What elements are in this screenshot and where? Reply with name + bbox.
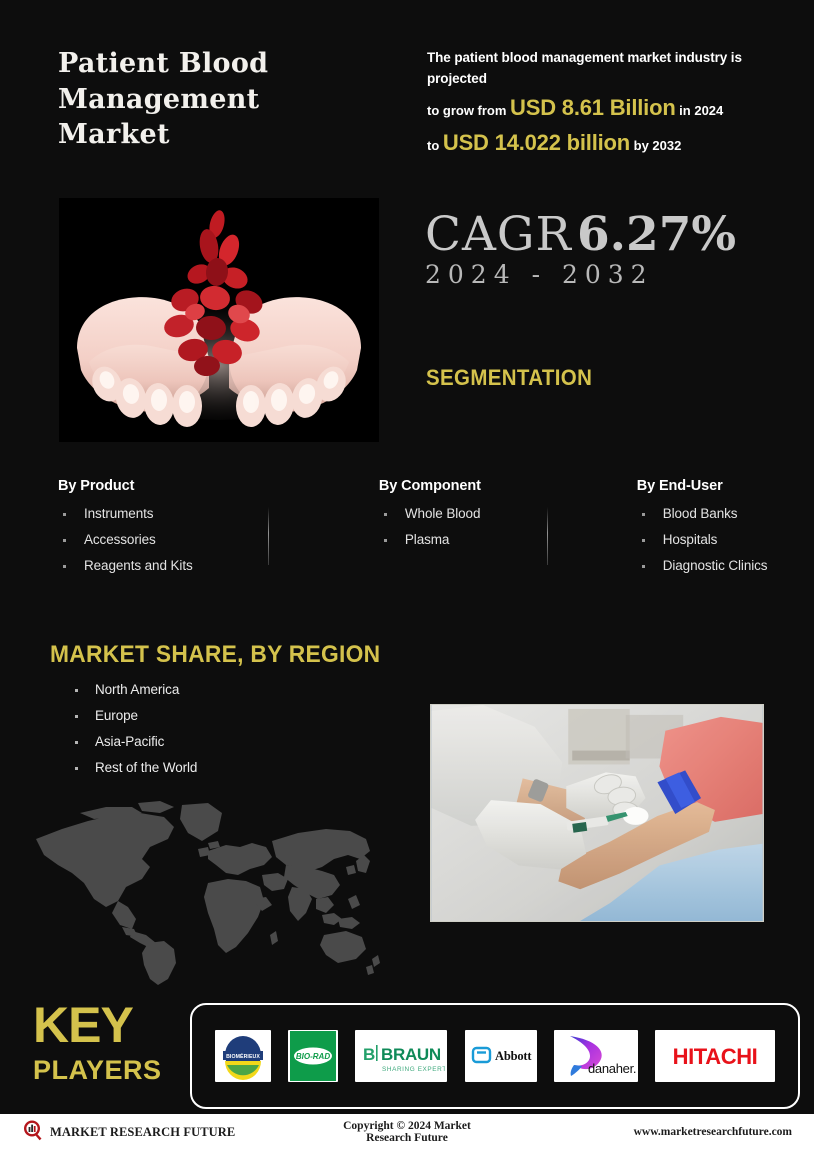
danaher-logo: danaher. xyxy=(554,1030,638,1082)
blood-draw-photo xyxy=(430,704,764,922)
footer-bar: MARKET RESEARCH FUTURE Copyright © 2024 … xyxy=(0,1114,814,1150)
cagr-value: 6.27% xyxy=(577,207,736,262)
biomerieux-logo: BIOMÉRIEUX xyxy=(215,1030,271,1082)
segment-list-by-component: Whole Blood Plasma xyxy=(379,506,577,547)
segment-column-by-end-user: By End-User Blood Banks Hospitals Diagno… xyxy=(577,478,778,584)
segment-list-by-product: Instruments Accessories Reagents and Kit… xyxy=(58,506,323,573)
intro-line-2-suffix: in 2024 xyxy=(676,103,724,118)
page-title: Patient Blood Management Market xyxy=(58,46,388,153)
list-item: Reagents and Kits xyxy=(58,558,323,573)
magnifier-barchart-icon xyxy=(22,1119,44,1146)
list-item: Diagnostic Clinics xyxy=(637,558,778,573)
list-item: Asia-Pacific xyxy=(72,734,197,749)
svg-text:SHARING EXPERTISE: SHARING EXPERTISE xyxy=(382,1066,445,1073)
segmentation-columns: By Product Instruments Accessories Reage… xyxy=(58,478,778,584)
list-item: North America xyxy=(72,682,197,697)
b-braun-logo: B BRAUN SHARING EXPERTISE xyxy=(355,1030,447,1082)
market-value-2024: USD 8.61 Billion xyxy=(510,95,676,120)
intro-line-3-prefix: to xyxy=(427,138,443,153)
list-item: Rest of the World xyxy=(72,760,197,775)
svg-text:danaher.: danaher. xyxy=(588,1061,636,1076)
list-item: Accessories xyxy=(58,532,323,547)
cagr-label: CAGR xyxy=(425,207,572,262)
key-players-logo-box: BIOMÉRIEUX BIO-RAD B BRAUN SHARING EXPER… xyxy=(190,1003,800,1109)
title-line-2: Management xyxy=(58,84,259,115)
world-map-graphic xyxy=(22,795,382,985)
hitachi-logo: HITACHI xyxy=(655,1030,775,1082)
segment-column-by-product: By Product Instruments Accessories Reage… xyxy=(58,478,323,584)
list-item: Whole Blood xyxy=(379,506,577,521)
segment-list-by-end-user: Blood Banks Hospitals Diagnostic Clinics xyxy=(637,506,778,573)
key-players-line-2: PLAYERS xyxy=(33,1057,162,1084)
region-heading: MARKET SHARE, BY REGION xyxy=(50,641,380,669)
bio-rad-logo: BIO-RAD xyxy=(288,1030,338,1082)
segment-heading-by-component: By Component xyxy=(379,478,577,494)
list-item: Hospitals xyxy=(637,532,778,547)
footer-copyright: Copyright © 2024 Market Research Future xyxy=(322,1120,492,1144)
title-line-3: Market xyxy=(58,119,170,150)
svg-text:BRAUN: BRAUN xyxy=(381,1045,441,1064)
intro-statistics: The patient blood management market indu… xyxy=(427,48,799,160)
title-line-1: Patient Blood xyxy=(58,48,268,79)
segment-heading-by-product: By Product xyxy=(58,478,323,494)
list-item: Instruments xyxy=(58,506,323,521)
svg-text:Abbott: Abbott xyxy=(495,1049,532,1063)
footer-url[interactable]: www.marketresearchfuture.com xyxy=(492,1126,792,1138)
svg-text:BIO-RAD: BIO-RAD xyxy=(296,1052,330,1061)
list-item: Europe xyxy=(72,708,197,723)
segmentation-heading: SEGMENTATION xyxy=(426,365,592,391)
svg-text:HITACHI: HITACHI xyxy=(673,1044,758,1069)
list-item: Plasma xyxy=(379,532,577,547)
segment-heading-by-end-user: By End-User xyxy=(637,478,778,494)
footer-brand: MARKET RESEARCH FUTURE xyxy=(22,1119,322,1146)
intro-line-1: The patient blood management market indu… xyxy=(427,48,799,89)
infographic-page: Patient Blood Management Market xyxy=(0,0,814,1150)
list-item: Blood Banks xyxy=(637,506,778,521)
abbott-logo: Abbott xyxy=(465,1030,537,1082)
intro-line-3-suffix: by 2032 xyxy=(630,138,681,153)
svg-text:B: B xyxy=(363,1045,375,1064)
svg-text:BIOMÉRIEUX: BIOMÉRIEUX xyxy=(226,1052,260,1060)
region-list: North America Europe Asia-Pacific Rest o… xyxy=(72,682,197,786)
market-value-2032: USD 14.022 billion xyxy=(443,130,630,155)
intro-line-2-prefix: to grow from xyxy=(427,103,510,118)
cagr-block: CAGR 6.27% 2024 - 2032 xyxy=(425,207,736,289)
footer-brand-name: MARKET RESEARCH FUTURE xyxy=(50,1125,235,1140)
hero-image-hands-blood xyxy=(59,198,379,442)
key-players-label: KEY PLAYERS xyxy=(33,1000,162,1084)
key-players-line-1: KEY xyxy=(33,1000,162,1050)
segment-column-by-component: By Component Whole Blood Plasma xyxy=(323,478,577,584)
cagr-period: 2024 - 2032 xyxy=(425,260,736,289)
